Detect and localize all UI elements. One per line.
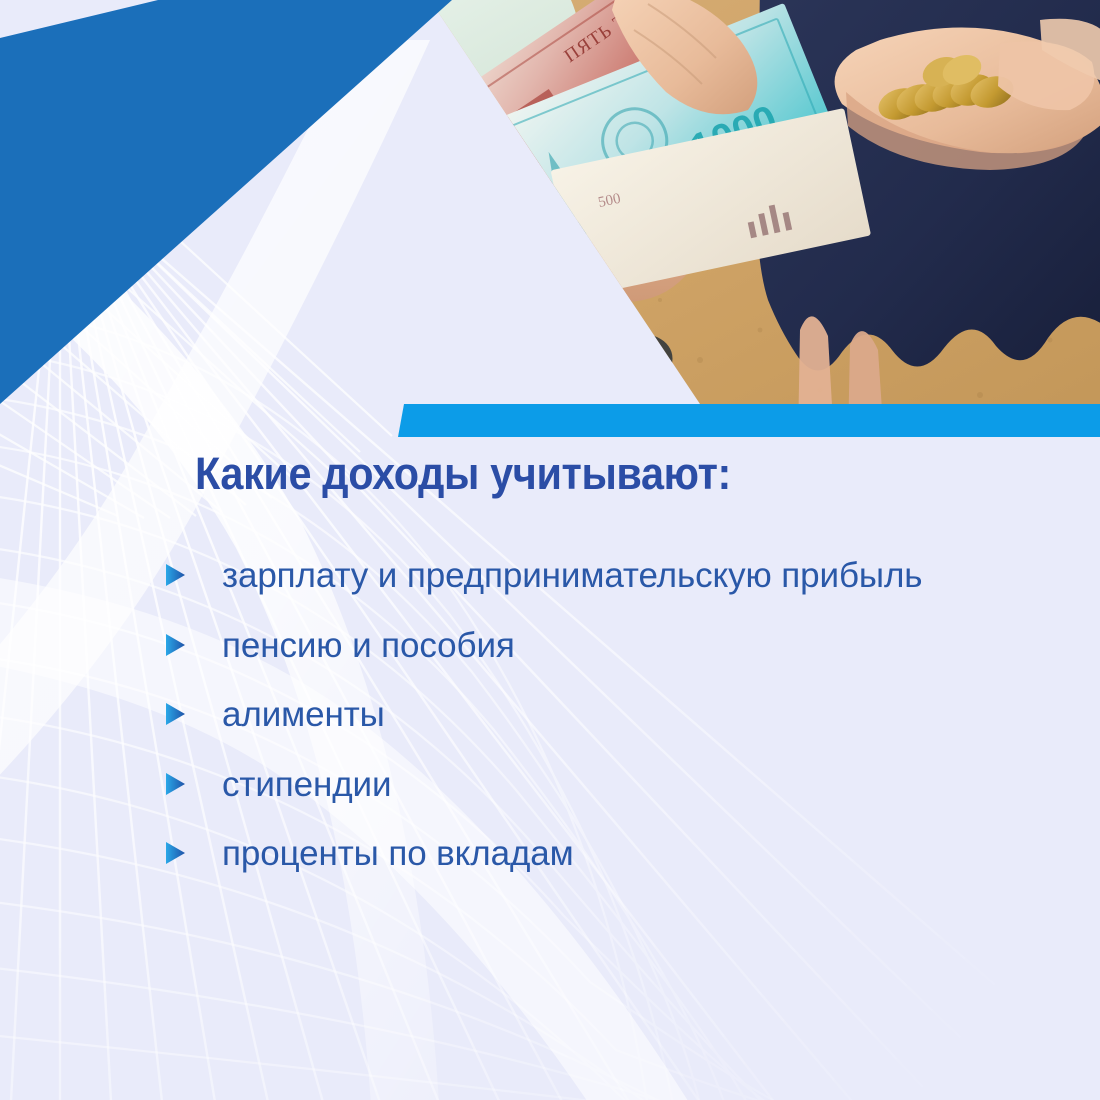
- list-item[interactable]: алименты: [162, 692, 1062, 738]
- list-item-label: стипендии: [222, 762, 1012, 808]
- list-item[interactable]: пенсию и пособия: [162, 623, 1062, 669]
- page-title: Какие доходы учитывают:: [195, 448, 731, 500]
- infographic-card: ПЯТЬ ТЫСЯЧ РУБЛЕЙ 1000: [0, 0, 1100, 1100]
- list-item-label: алименты: [222, 692, 1012, 738]
- content-block: Какие доходы учитывают: зарплату и предп…: [0, 430, 1100, 1030]
- list-item[interactable]: стипендии: [162, 762, 1062, 808]
- list-item[interactable]: проценты по вкладам: [162, 831, 1062, 877]
- triangle-right-icon: [162, 771, 188, 797]
- triangle-right-icon: [162, 632, 188, 658]
- list-item-label: проценты по вкладам: [222, 831, 1012, 877]
- triangle-right-icon: [162, 701, 188, 727]
- list-item[interactable]: зарплату и предпринимательскую прибыль: [162, 553, 1062, 599]
- list-item-label: зарплату и предпринимательскую прибыль: [222, 553, 1012, 599]
- triangle-right-icon: [162, 562, 188, 588]
- income-list: зарплату и предпринимательскую прибыль п…: [162, 553, 1062, 901]
- list-item-label: пенсию и пособия: [222, 623, 1012, 669]
- triangle-right-icon: [162, 840, 188, 866]
